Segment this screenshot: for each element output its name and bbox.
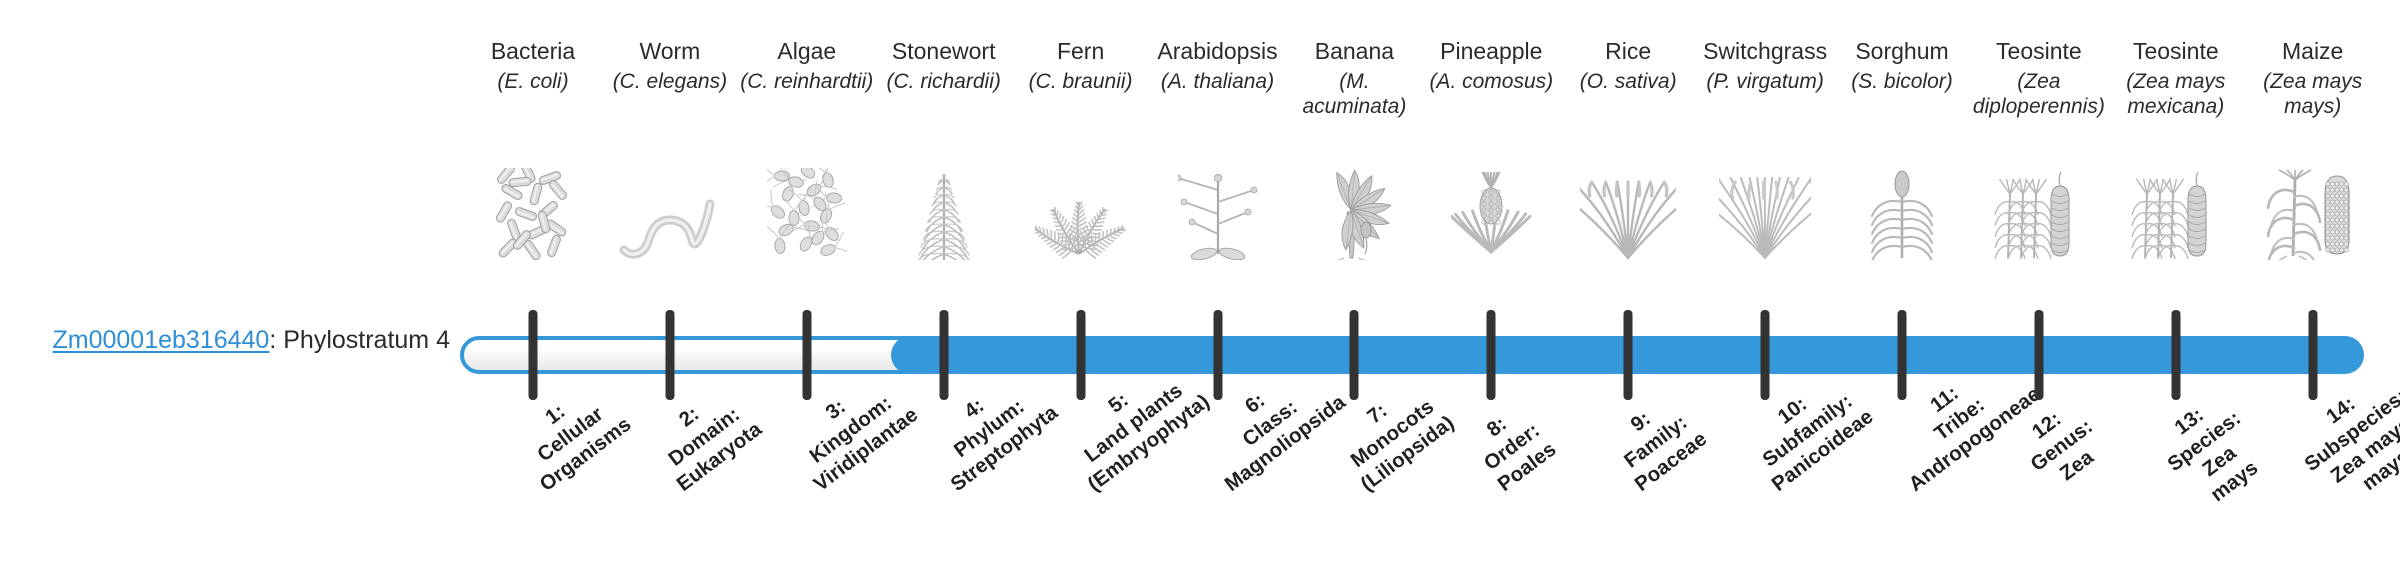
- phylostratum-value: Phylostratum 4: [283, 326, 450, 354]
- species-scientific-name: (Zea mays mays): [2243, 70, 2383, 120]
- species-column: Fern(C. braunii): [1011, 0, 1151, 580]
- species-scientific-name: (C. reinhardtii): [737, 70, 877, 95]
- rice-plant-icon: [1568, 168, 1688, 260]
- species-scientific-name: (A. comosus): [1421, 70, 1561, 95]
- species-scientific-name: (C. braunii): [1011, 70, 1151, 95]
- species-scientific-name: (Zea diploperennis): [1969, 70, 2109, 120]
- species-common-name: Algae: [737, 38, 877, 64]
- species-common-name: Switchgrass: [1695, 38, 1835, 64]
- nematode-worm-icon: [610, 168, 730, 260]
- gene-phylostratum-label: Zm00001eb316440: Phylostratum 4: [0, 327, 450, 355]
- species-column: Bacteria(E. coli): [463, 0, 603, 580]
- stratum-label: 12: Genus: Zea: [2011, 394, 2113, 497]
- fern-frond-icon: [1021, 168, 1141, 260]
- banana-tree-icon: [1294, 168, 1414, 260]
- species-common-name: Banana: [1284, 38, 1424, 64]
- species-column: Pineapple(A. comosus)8: Order: Poales: [1421, 0, 1561, 580]
- species-column: Rice(O. sativa)9: Family: Poaceae: [1558, 0, 1698, 580]
- species-common-name: Teosinte: [2106, 38, 2246, 64]
- species-common-name: Sorghum: [1832, 38, 1972, 64]
- species-scientific-name: (C. richardii): [874, 70, 1014, 95]
- species-column: Switchgrass(P. virgatum)10: Subfamily: P…: [1695, 0, 1835, 580]
- species-scientific-name: (O. sativa): [1558, 70, 1698, 95]
- stratum-label: 4: Phylum: Streptophyta: [915, 360, 1062, 497]
- stratum-label: 2: Domain: Eukaryota: [642, 377, 767, 497]
- stratum-label: 14: Subspecies: Zea mays mays: [2284, 364, 2400, 517]
- stratum-label: 9: Family: Poaceae: [1600, 386, 1712, 496]
- species-column: Maize(Zea mays mays) 14: Subspecies: Zea…: [2243, 0, 2383, 580]
- stratum-label: 8: Order: Poales: [1463, 397, 1561, 497]
- species-common-name: Rice: [1558, 38, 1698, 64]
- species-common-name: Bacteria: [463, 38, 603, 64]
- species-column: Banana(M. acuminata): [1284, 0, 1424, 580]
- phylostratum-bar-fill: [895, 336, 2364, 374]
- species-scientific-name: (A. thaliana): [1148, 70, 1288, 95]
- species-column: Stonewort(C. richardii)4: Phylum: Strept…: [874, 0, 1014, 580]
- stratum-label: 3: Kingdom: Viridiplantae: [778, 362, 922, 497]
- species-column: Algae(C. reinhardtii): [737, 0, 877, 580]
- teosinte-plant-and-ear-icon: [1979, 168, 2099, 260]
- stratum-label: 1: Cellular Organisms: [505, 372, 636, 497]
- teosinte-mexicana-plant-and-ear-icon: [2116, 168, 2236, 260]
- sorghum-plant-icon: [1842, 168, 1962, 260]
- species-scientific-name: (M. acuminata): [1284, 70, 1424, 120]
- stratum-label: 13: Species: Zea mays: [2147, 386, 2275, 517]
- species-common-name: Worm: [600, 38, 740, 64]
- bacteria-rods-icon: [473, 168, 593, 260]
- stratum-label: 10: Subfamily: Panicoideae: [1737, 364, 1879, 497]
- species-common-name: Arabidopsis: [1148, 38, 1288, 64]
- species-scientific-name: (S. bicolor): [1832, 70, 1972, 95]
- species-column: Teosinte(Zea mays mexicana) 13: Species:…: [2106, 0, 2246, 580]
- gene-id-link[interactable]: Zm00001eb316440: [52, 326, 269, 354]
- stratum-label: 7: Monocots (Liliopsida): [1326, 370, 1459, 496]
- maize-plant-and-cob-icon: [2253, 168, 2373, 260]
- stonewort-alga-icon: [884, 168, 1004, 260]
- species-scientific-name: (C. elegans): [600, 70, 740, 95]
- species-column: Sorghum(S. bicolor)11: Tribe: Andropogon…: [1832, 0, 1972, 580]
- species-common-name: Stonewort: [874, 38, 1014, 64]
- species-column: Worm(C. elegans) 2: Domain: Eukaryota: [600, 0, 740, 580]
- gene-label-separator: :: [269, 326, 283, 354]
- species-scientific-name: (P. virgatum): [1695, 70, 1835, 95]
- phylostratum-bar-fill-cap: [891, 336, 929, 374]
- species-common-name: Pineapple: [1421, 38, 1561, 64]
- phylostratum-bar-track[interactable]: [460, 336, 2360, 374]
- species-column: Arabidopsis(A. thaliana) 6: Class: Magno…: [1148, 0, 1288, 580]
- species-scientific-name: (Zea mays mexicana): [2106, 70, 2246, 120]
- arabidopsis-plant-icon: [1158, 168, 1278, 260]
- pineapple-plant-icon: [1431, 168, 1551, 260]
- switchgrass-plant-icon: [1705, 168, 1825, 260]
- species-column: Teosinte(Zea diploperennis) 12: Genus: Z…: [1969, 0, 2109, 580]
- green-algae-cells-icon: [747, 168, 867, 260]
- phylostratigraphy-figure: Zm00001eb316440: Phylostratum 4 Bacteria…: [0, 0, 2400, 580]
- species-common-name: Fern: [1011, 38, 1151, 64]
- species-common-name: Maize: [2243, 38, 2383, 64]
- species-scientific-name: (E. coli): [463, 70, 603, 95]
- species-common-name: Teosinte: [1969, 38, 2109, 64]
